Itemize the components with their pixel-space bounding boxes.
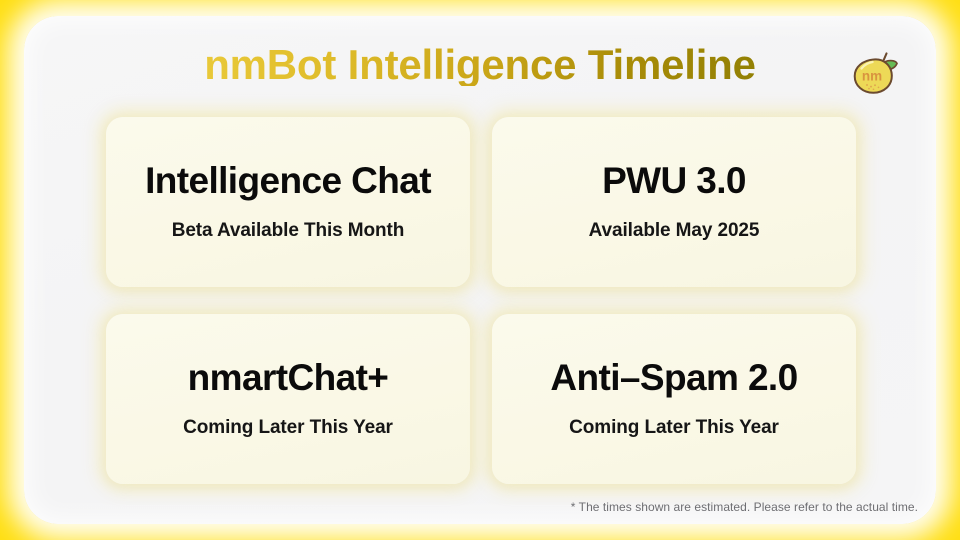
svg-text:nm: nm <box>862 69 882 84</box>
lemon-logo-icon: nm <box>842 42 904 104</box>
card-subtitle: Coming Later This Year <box>569 417 779 439</box>
card-title: Intelligence Chat <box>145 162 431 201</box>
content-panel: nmBot Intelligence Timeline nm <box>24 16 936 524</box>
card-title: nmartChat+ <box>188 359 389 398</box>
card-subtitle: Coming Later This Year <box>183 417 393 439</box>
header: nmBot Intelligence Timeline <box>24 44 936 86</box>
feature-card-nmartchat-plus[interactable]: nmartChat+ Coming Later This Year <box>106 314 470 484</box>
card-subtitle: Beta Available This Month <box>172 220 405 242</box>
page-title: nmBot Intelligence Timeline <box>204 44 756 86</box>
slide-canvas: nmBot Intelligence Timeline nm <box>0 0 960 540</box>
feature-card-pwu-3-0[interactable]: PWU 3.0 Available May 2025 <box>492 117 856 287</box>
card-subtitle: Available May 2025 <box>589 220 760 242</box>
card-title: PWU 3.0 <box>602 162 746 201</box>
feature-card-anti-spam-2-0[interactable]: Anti–Spam 2.0 Coming Later This Year <box>492 314 856 484</box>
card-title: Anti–Spam 2.0 <box>550 359 797 398</box>
feature-card-grid: Intelligence Chat Beta Available This Mo… <box>106 117 856 484</box>
feature-card-intelligence-chat[interactable]: Intelligence Chat Beta Available This Mo… <box>106 117 470 287</box>
footnote-disclaimer: * The times shown are estimated. Please … <box>571 500 918 514</box>
